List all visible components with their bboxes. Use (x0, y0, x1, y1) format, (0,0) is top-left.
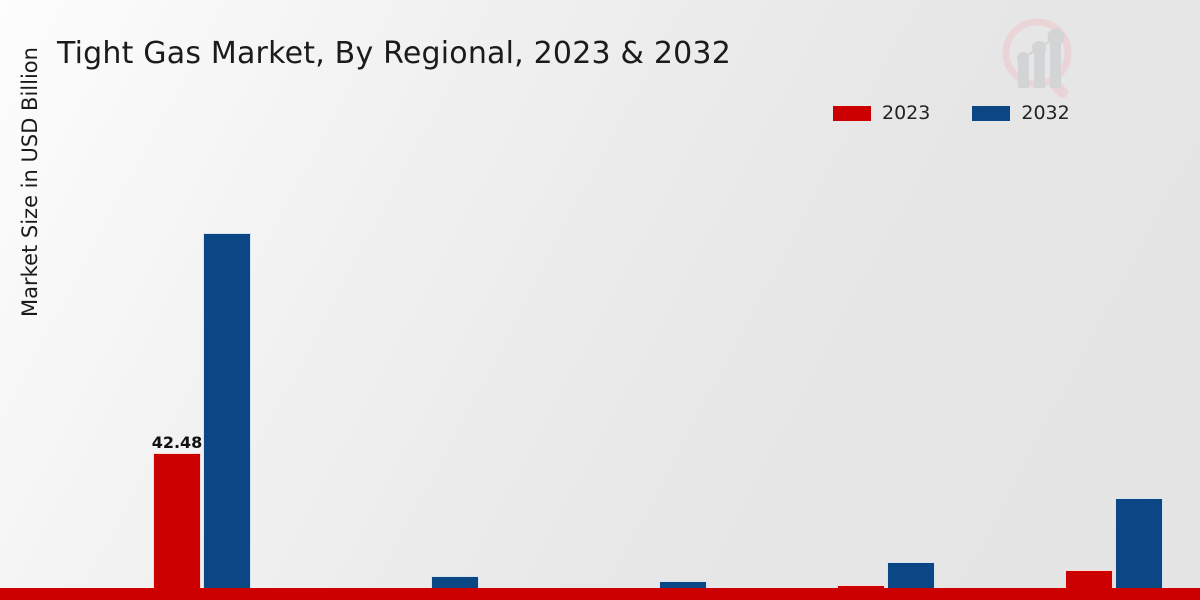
bar-2023[interactable]: 42.48 (153, 453, 201, 600)
legend-swatch-2032 (972, 106, 1010, 121)
legend-label-2023: 2023 (882, 104, 930, 123)
chart-legend: 2023 2032 (833, 104, 1070, 123)
legend-2023[interactable]: 2023 (833, 104, 930, 123)
legend-2032[interactable]: 2032 (972, 104, 1069, 123)
bar-pair (1065, 498, 1163, 600)
bar-2032[interactable] (203, 233, 251, 600)
bottom-accent-strip (0, 588, 1200, 600)
bar-value-label: 42.48 (152, 433, 203, 452)
bar-2032[interactable] (1115, 498, 1163, 600)
legend-swatch-2023 (833, 106, 871, 121)
bar-group (1000, 150, 1200, 600)
y-axis-title: Market Size in USD Billion (18, 0, 42, 372)
bar-group (544, 150, 772, 600)
chart-page: Tight Gas Market, By Regional, 2023 & 20… (0, 0, 1200, 600)
bar-group (772, 150, 1000, 600)
bar-groups: 42.48 (88, 150, 1200, 600)
legend-label-2032: 2032 (1021, 104, 1069, 123)
plot-area: 42.48 NORTH AMERICAEUROPESOUTH AMERICAAS… (44, 150, 1184, 450)
bar-group (316, 150, 544, 600)
bar-pair: 42.48 (153, 233, 251, 600)
magnifier-bar-chart-logo (990, 8, 1090, 108)
bar-group: 42.48 (88, 150, 316, 600)
page-title: Tight Gas Market, By Regional, 2023 & 20… (57, 36, 731, 71)
